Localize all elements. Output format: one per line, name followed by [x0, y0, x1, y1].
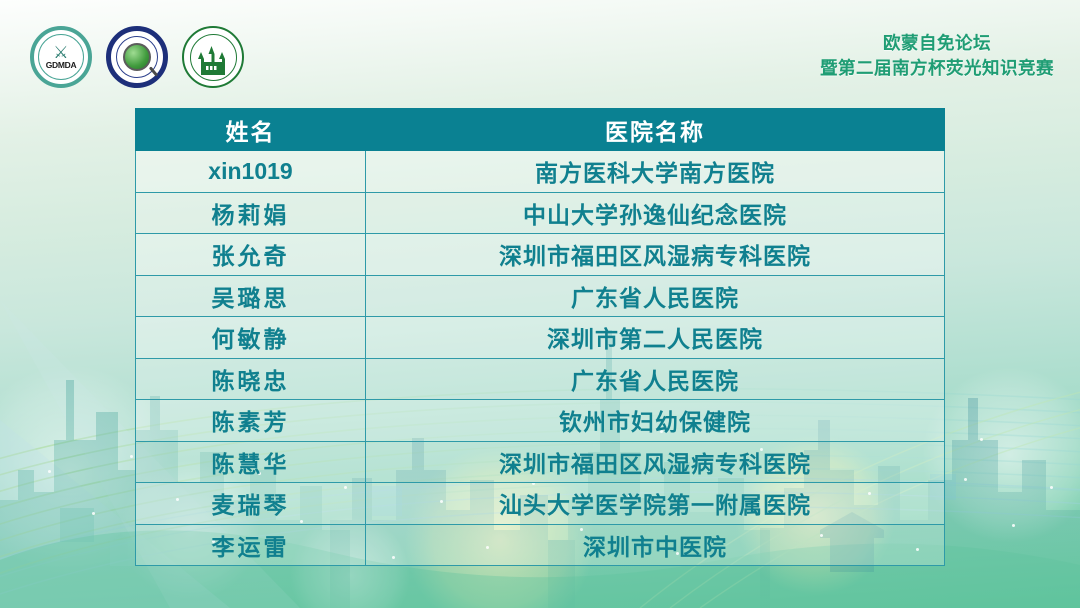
column-header-name: 姓名	[136, 109, 366, 151]
euroimmun-academy-logo	[182, 26, 244, 88]
cell-name: 杨莉娟	[136, 192, 366, 234]
roster-table-container: 姓名 医院名称 xin1019 南方医科大学南方医院 杨莉娟 中山大学孙逸仙纪念…	[135, 108, 945, 566]
cell-hospital: 深圳市福田区风湿病专科医院	[366, 441, 945, 483]
cell-hospital: 深圳市中医院	[366, 524, 945, 566]
table-header-row: 姓名 医院名称	[136, 109, 945, 151]
table-row: 张允奇 深圳市福田区风湿病专科医院	[136, 234, 945, 276]
cell-name: 陈慧华	[136, 441, 366, 483]
cell-name: 陈素芳	[136, 400, 366, 442]
nflab-logo	[106, 26, 168, 88]
roster-table: 姓名 医院名称 xin1019 南方医科大学南方医院 杨莉娟 中山大学孙逸仙纪念…	[135, 108, 945, 566]
column-header-hospital: 医院名称	[366, 109, 945, 151]
table-row: 陈慧华 深圳市福田区风湿病专科医院	[136, 441, 945, 483]
table-row: 吴璐思 广东省人民医院	[136, 275, 945, 317]
cell-name: 张允奇	[136, 234, 366, 276]
table-row: 陈晓忠 广东省人民医院	[136, 358, 945, 400]
cell-hospital: 南方医科大学南方医院	[366, 151, 945, 193]
cell-name: 李运雷	[136, 524, 366, 566]
event-title-line2: 暨第二届南方杯荧光知识竞赛	[820, 56, 1054, 81]
table-body: xin1019 南方医科大学南方医院 杨莉娟 中山大学孙逸仙纪念医院 张允奇 深…	[136, 151, 945, 566]
table-row: 杨莉娟 中山大学孙逸仙纪念医院	[136, 192, 945, 234]
cell-name: 麦瑞琴	[136, 483, 366, 525]
cell-name: 陈晓忠	[136, 358, 366, 400]
gdmda-acronym: GDMDA	[46, 60, 77, 70]
table-row: 麦瑞琴 汕头大学医学院第一附属医院	[136, 483, 945, 525]
castle-icon	[195, 45, 231, 75]
cell-name: 何敏静	[136, 317, 366, 359]
table-row: 李运雷 深圳市中医院	[136, 524, 945, 566]
asclepius-snake-icon: ⚔	[53, 44, 68, 61]
table-row: 何敏静 深圳市第二人民医院	[136, 317, 945, 359]
table-row: xin1019 南方医科大学南方医院	[136, 151, 945, 193]
cell-name: 吴璐思	[136, 275, 366, 317]
glow-circle	[922, 367, 1080, 543]
cell-hospital: 中山大学孙逸仙纪念医院	[366, 192, 945, 234]
event-title-line1: 欧蒙自免论坛	[820, 31, 1054, 56]
globe-magnifier-icon	[123, 43, 151, 71]
logo-group: ⚔ GDMDA	[30, 26, 244, 88]
cell-hospital: 深圳市第二人民医院	[366, 317, 945, 359]
cell-hospital: 深圳市福田区风湿病专科医院	[366, 234, 945, 276]
table-row: 陈素芳 钦州市妇幼保健院	[136, 400, 945, 442]
presentation-slide: ⚔ GDMDA	[0, 0, 1080, 608]
cell-hospital: 广东省人民医院	[366, 275, 945, 317]
cell-name: xin1019	[136, 151, 366, 193]
cell-hospital: 广东省人民医院	[366, 358, 945, 400]
gdmda-logo: ⚔ GDMDA	[30, 26, 92, 88]
cell-hospital: 汕头大学医学院第一附属医院	[366, 483, 945, 525]
cell-hospital: 钦州市妇幼保健院	[366, 400, 945, 442]
event-title: 欧蒙自免论坛 暨第二届南方杯荧光知识竞赛	[820, 31, 1054, 81]
